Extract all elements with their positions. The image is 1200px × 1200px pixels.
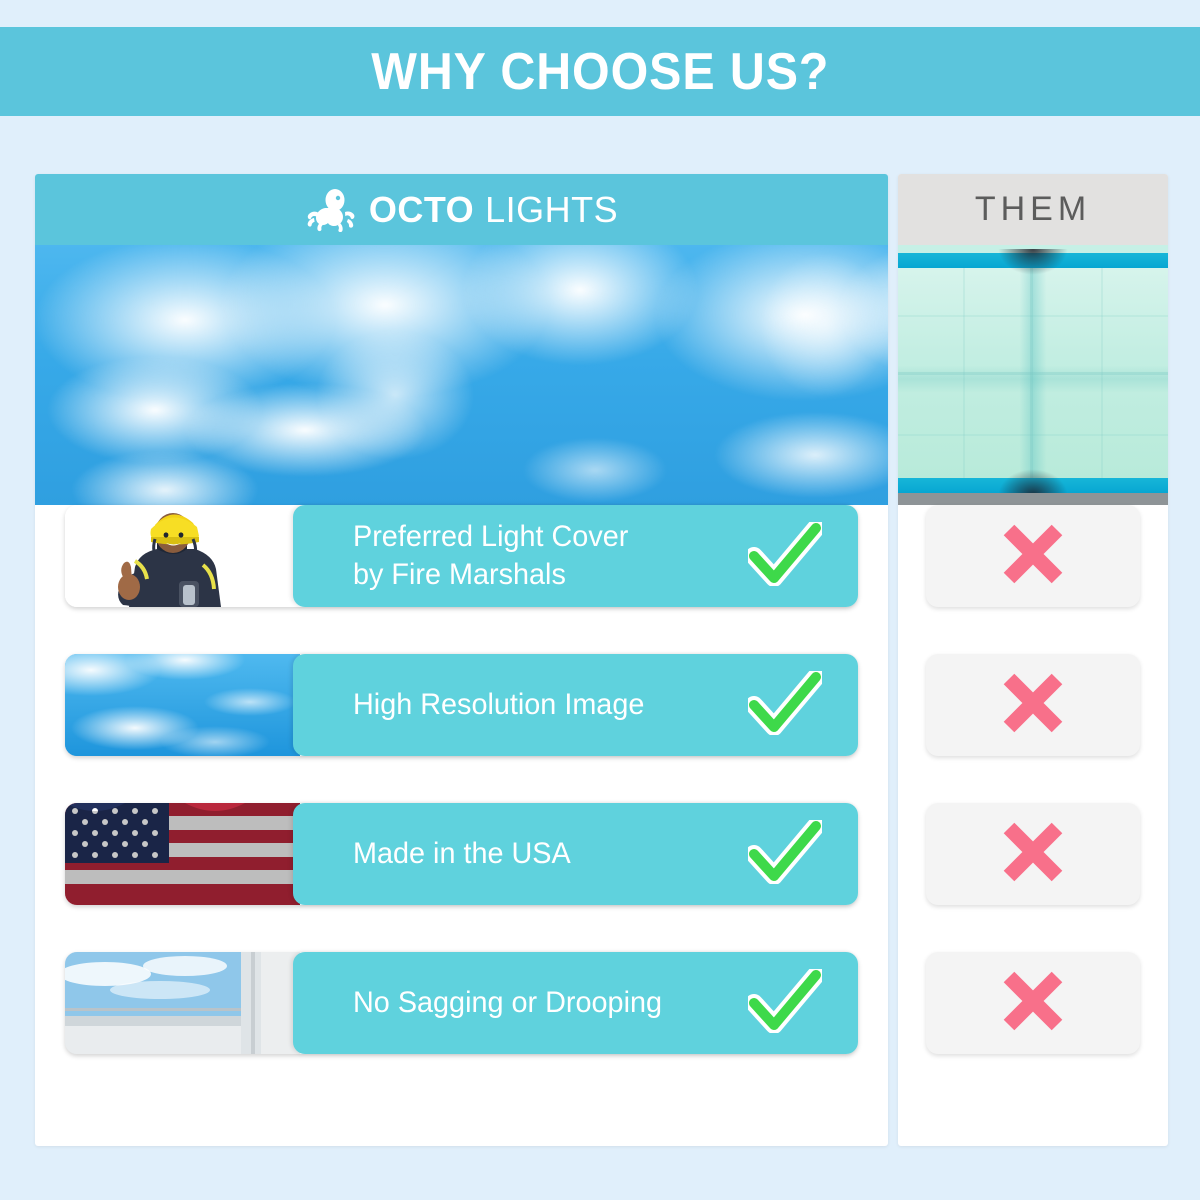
them-mark-list [898,505,1168,1101]
them-mark-row[interactable] [926,654,1140,756]
them-fabric [898,265,1168,493]
feature-thumbnail-sky [65,654,300,756]
brand-header: OCTO LIGHTS [35,174,888,245]
brand-name-light: LIGHTS [485,189,618,231]
them-column-card: THEM [898,174,1168,1146]
them-floor [898,493,1168,505]
them-sag-shadow-top [998,249,1068,275]
feature-thumbnail-window [65,952,300,1054]
us-column-card: OCTO LIGHTS [35,174,888,1146]
feature-panel: High Resolution Image [293,654,858,756]
brand-name-bold: OCTO [369,189,474,231]
feature-row[interactable]: No Sagging or Drooping [65,952,858,1054]
page-title: WHY CHOOSE US? [371,42,829,102]
feature-label-line2: by Fire Marshals [353,558,566,591]
feature-row[interactable]: Made in the USA [65,803,858,905]
them-mark-row[interactable] [926,803,1140,905]
x-icon [997,667,1069,744]
x-icon [997,816,1069,893]
x-icon [997,518,1069,595]
feature-label: Preferred Light Cover by Fire Marshals [353,518,732,594]
feature-panel: Made in the USA [293,803,858,905]
them-title: THEM [975,190,1091,229]
brand-wordmark: OCTO LIGHTS [369,189,618,231]
them-hero-image [898,245,1168,505]
check-icon [748,969,836,1038]
octopus-icon [305,188,357,232]
feature-thumbnail-usa-flag [65,803,300,905]
them-header: THEM [898,174,1168,245]
check-icon [748,522,836,591]
us-feature-list: Preferred Light Cover by Fire Marshals [35,505,888,1101]
feature-panel: No Sagging or Drooping [293,952,858,1054]
them-sag-shadow-bottom [998,469,1068,495]
page-banner: WHY CHOOSE US? [0,27,1200,116]
check-icon [748,820,836,889]
feature-row[interactable]: High Resolution Image [65,654,858,756]
feature-panel: Preferred Light Cover by Fire Marshals [293,505,858,607]
them-mark-row[interactable] [926,952,1140,1054]
feature-label: Made in the USA [353,835,732,873]
feature-label: No Sagging or Drooping [353,984,732,1022]
them-mark-row[interactable] [926,505,1140,607]
feature-label: High Resolution Image [353,686,732,724]
feature-row[interactable]: Preferred Light Cover by Fire Marshals [65,505,858,607]
feature-label-line1: Preferred Light Cover [353,520,628,553]
check-icon [748,671,836,740]
us-hero-image [35,245,888,505]
x-icon [997,965,1069,1042]
feature-thumbnail-firefighter [65,505,300,607]
